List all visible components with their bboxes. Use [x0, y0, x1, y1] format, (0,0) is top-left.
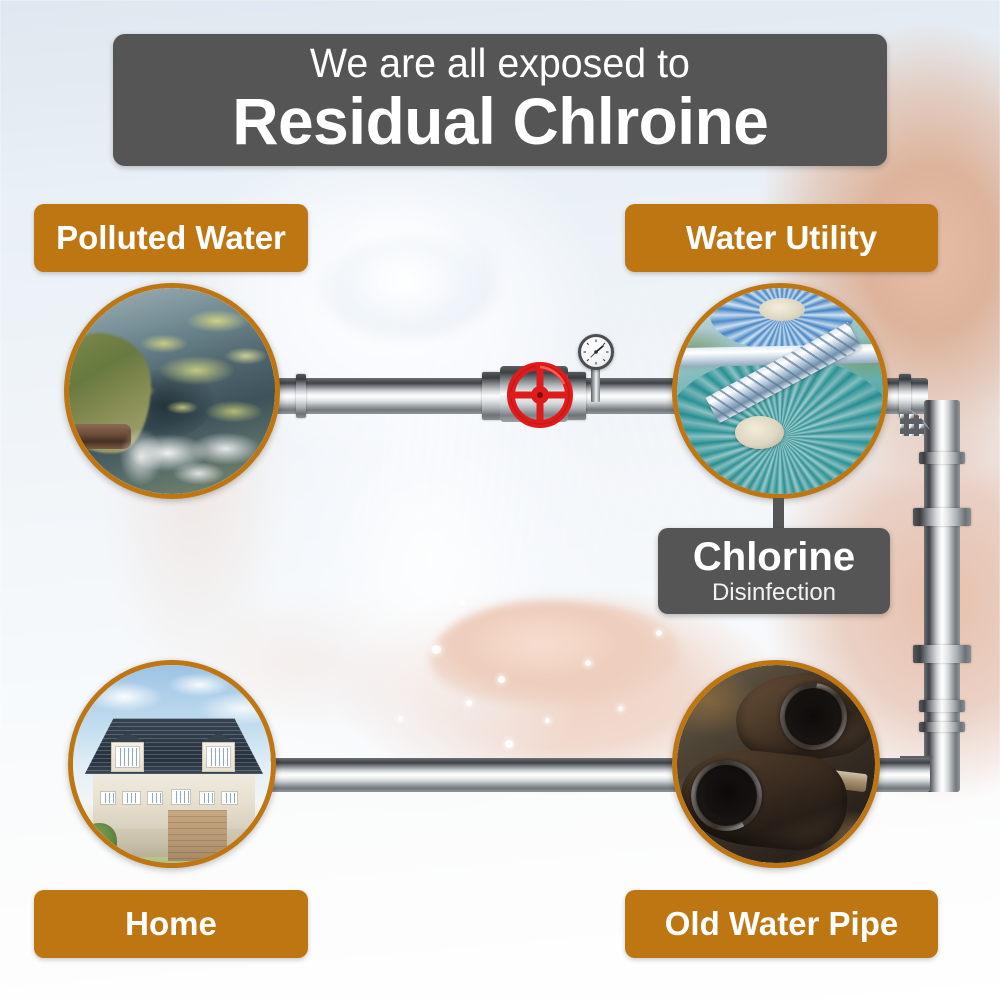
home-window-2: [123, 792, 141, 804]
water-utility-center-hub: [735, 416, 784, 449]
pipe-collar-right-3: [919, 722, 965, 732]
gauge-stem: [591, 368, 600, 402]
water-utility-upper-tank-hub: [759, 298, 804, 321]
callout-title: Chlorine: [693, 536, 855, 578]
home-window-4: [200, 792, 214, 804]
home-shrub: [83, 823, 117, 859]
page-title-eyebrow: We are all exposed to: [310, 43, 690, 84]
home-door-upper: [172, 790, 190, 804]
home-dormer-window-right: [207, 747, 231, 767]
polluted-water-foam: [69, 288, 275, 494]
infographic-canvas: We are all exposed to Residual Chlroine …: [0, 0, 1000, 1000]
home-window-1: [101, 792, 115, 804]
pipe-elbow-top-right: [900, 378, 960, 436]
home-window-3: [148, 792, 162, 804]
pipe-collar-right-1: [919, 452, 965, 464]
photo-water-utility[interactable]: [672, 283, 888, 499]
label-old-water-pipe[interactable]: Old Water Pipe: [625, 890, 938, 958]
label-home[interactable]: Home: [34, 890, 308, 958]
pipe-flange-right-upper: [913, 508, 971, 526]
red-valve-handwheel[interactable]: [507, 362, 573, 428]
photo-old-water-pipe[interactable]: [672, 660, 880, 868]
pipe-flange-right-lower: [913, 645, 971, 663]
callout-subtitle: Disinfection: [712, 579, 836, 607]
pipe-collar-top-left: [296, 374, 306, 418]
page-title-banner: We are all exposed to Residual Chlroine: [113, 34, 887, 166]
home-window-5: [222, 792, 238, 804]
pipe-top-left-segment: [258, 378, 504, 414]
photo-polluted-water[interactable]: [64, 283, 280, 499]
label-polluted-water[interactable]: Polluted Water: [34, 204, 308, 272]
photo-home[interactable]: [68, 660, 276, 868]
home-dormer-window-left: [116, 747, 140, 767]
label-water-utility[interactable]: Water Utility: [625, 204, 938, 272]
pressure-gauge: [578, 334, 614, 370]
pipe-flange-left-of-valve: [482, 372, 502, 420]
home-stone-facade: [168, 810, 227, 861]
chlorine-callout: Chlorine Disinfection: [658, 528, 890, 614]
pipe-collar-right-2: [919, 700, 965, 712]
page-title: Residual Chlroine: [232, 86, 768, 157]
